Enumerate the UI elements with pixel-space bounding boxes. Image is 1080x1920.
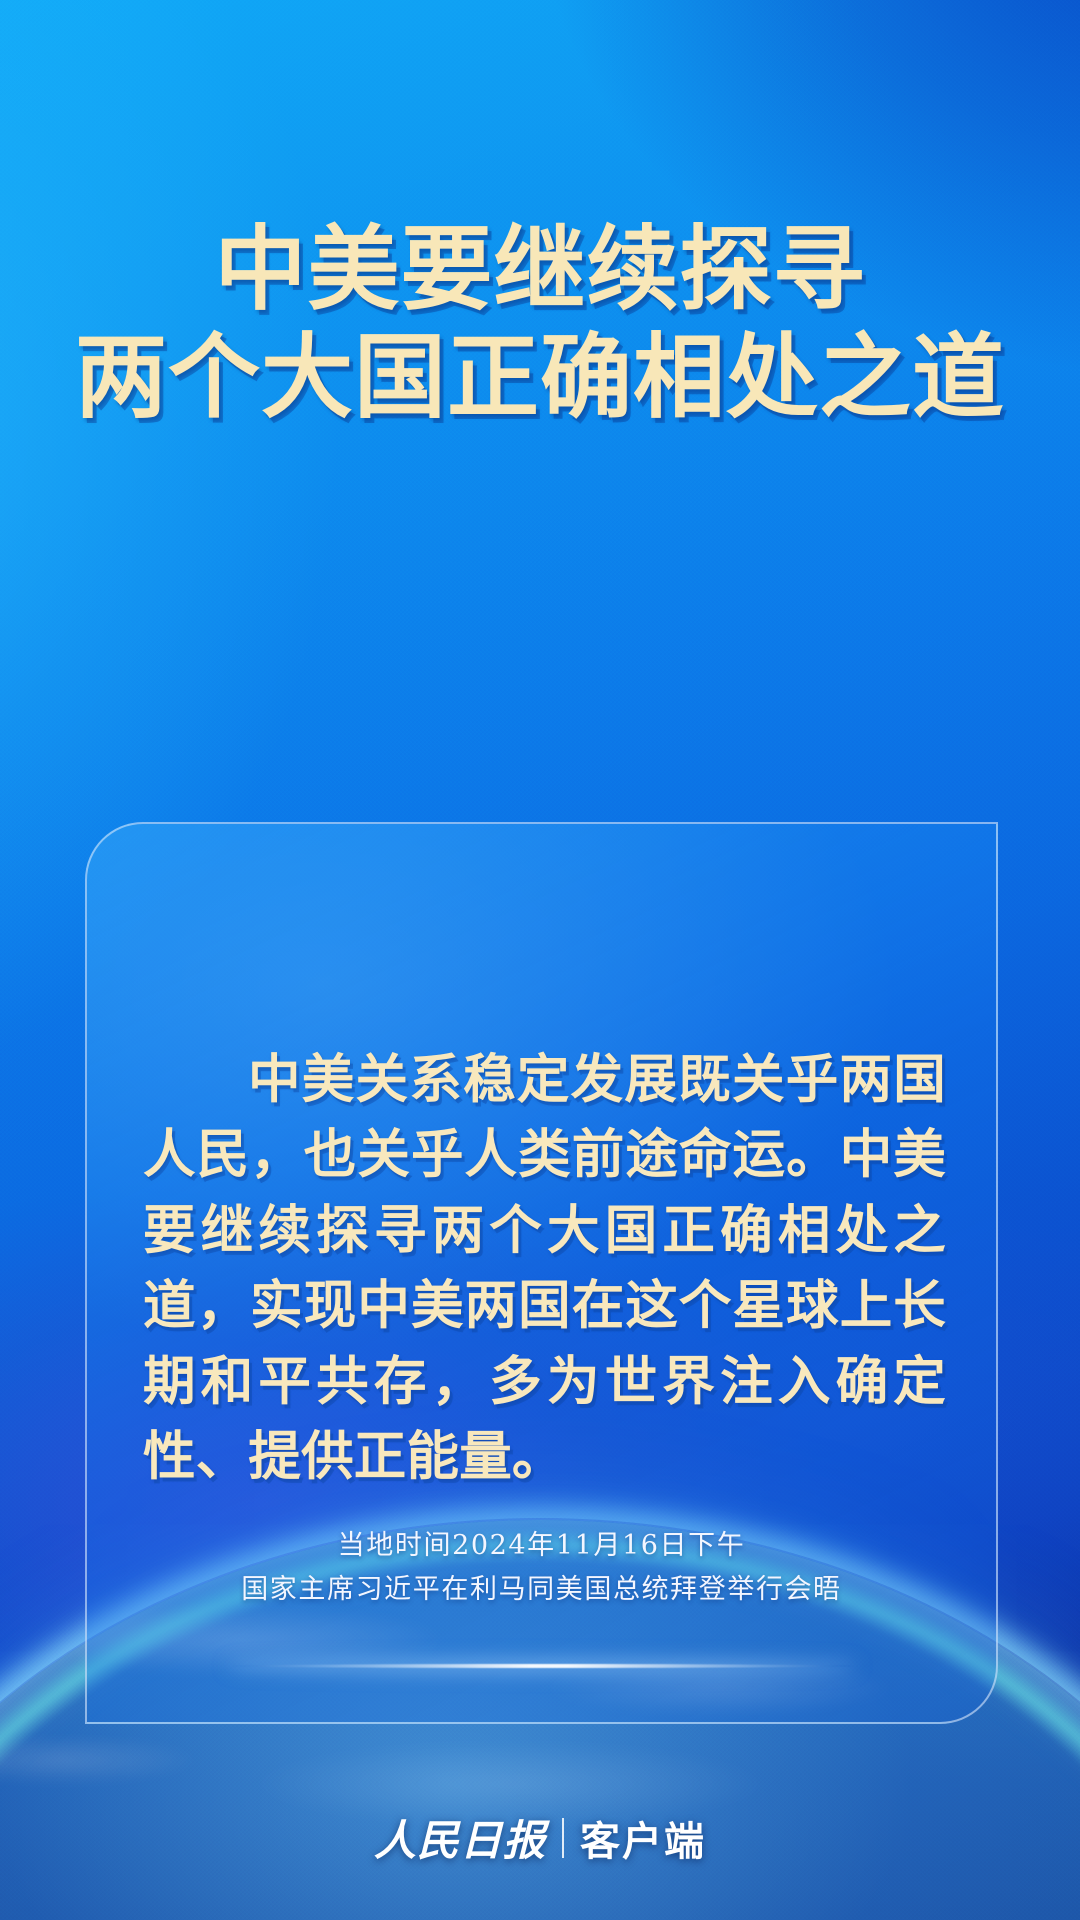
app-name-label: 客户端 [580, 1809, 706, 1867]
quote-text: 中美关系稳定发展既关乎两国人民，也关乎人类前途命运。中美要继续探寻两个大国正确相… [143, 1042, 946, 1496]
caption-line-2: 国家主席习近平在利马同美国总统拜登举行会晤 [127, 1568, 956, 1612]
page-title: 中美要继续探寻 两个大国正确相处之道 [0, 219, 1080, 427]
logo-divider [562, 1818, 564, 1858]
page-title-line-1: 中美要继续探寻 [0, 219, 1080, 320]
decorative-glow-line [232, 1664, 852, 1668]
caption-line-1: 当地时间2024年11月16日下午 [127, 1524, 956, 1568]
publisher-wordmark: 人民日报 [374, 1807, 546, 1868]
page-title-line-2: 两个大国正确相处之道 [0, 327, 1080, 428]
footer-logo: 人民日报 客户端 [0, 1807, 1080, 1868]
quote-caption: 当地时间2024年11月16日下午 国家主席习近平在利马同美国总统拜登举行会晤 [127, 1524, 956, 1611]
quote-card: 中美关系稳定发展既关乎两国人民，也关乎人类前途命运。中美要继续探寻两个大国正确相… [85, 822, 998, 1724]
poster-root: 中美要继续探寻 两个大国正确相处之道 中美关系稳定发展既关乎两国人民，也关乎人类… [0, 0, 1080, 1920]
